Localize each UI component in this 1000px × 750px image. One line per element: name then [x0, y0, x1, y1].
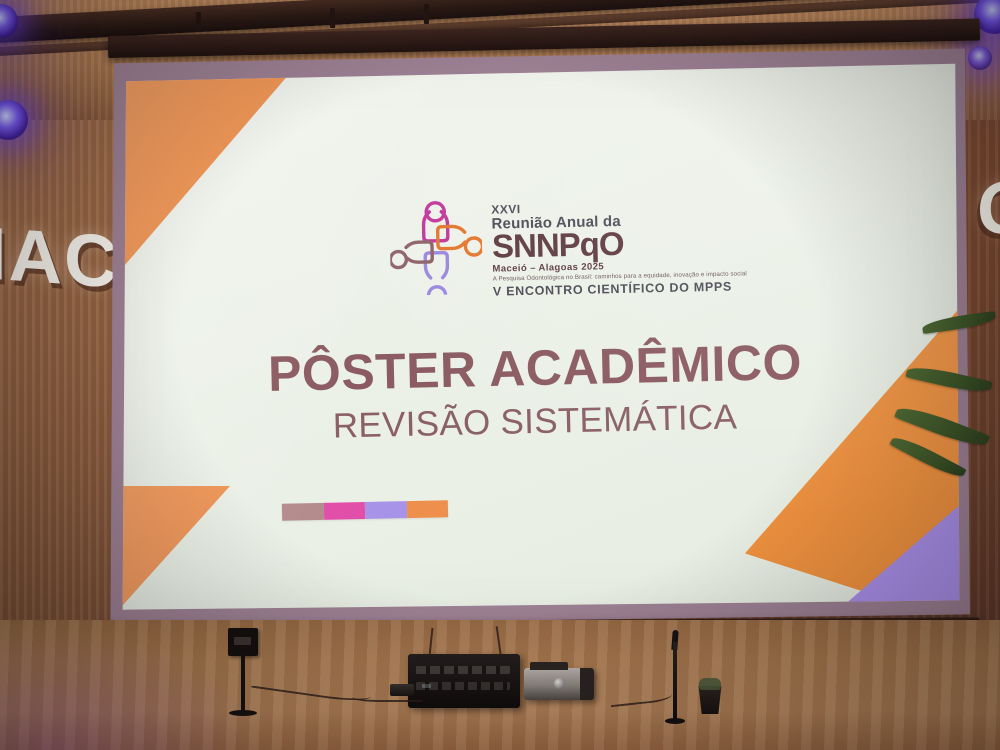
slide-content: XXVI Reunião Anual da SNNPqO Maceió – Al…: [100, 44, 970, 626]
color-palette-bar: [282, 500, 448, 520]
palette-swatch-2: [323, 502, 365, 520]
rail-drop-bracket: [330, 8, 335, 28]
palette-swatch-1: [282, 503, 324, 521]
logo-acronym: SNNPqO: [492, 227, 747, 263]
hanging-cable: [429, 628, 473, 658]
logo-mpps-line: V ENCONTRO CIENTÍFICO DO MPPS: [493, 279, 747, 298]
floor-light-glow: [0, 630, 260, 750]
palette-swatch-3: [365, 501, 407, 519]
microphone-pole: [673, 642, 677, 720]
screen-surface: XXVI Reunião Anual da SNNPqO Maceió – Al…: [100, 44, 970, 626]
microphone-base: [665, 718, 685, 724]
rail-drop-bracket: [196, 12, 201, 32]
projection-screen: XXVI Reunião Anual da SNNPqO Maceió – Al…: [100, 36, 980, 626]
bucket-foliage: [699, 678, 721, 690]
stage-light-pole: [241, 654, 245, 712]
snnpqo-puzzle-logo-icon: [389, 194, 483, 296]
audio-amplifier: [408, 654, 520, 708]
palette-swatch-4: [406, 500, 448, 518]
auditorium-scene: IAC C: [0, 0, 1000, 750]
stage-light-base: [229, 710, 257, 716]
conference-logo: XXVI Reunião Anual da SNNPqO Maceió – Al…: [389, 188, 751, 301]
venue-sign-right: C: [977, 163, 1000, 253]
stage-light-head: [228, 628, 258, 656]
media-player-knob: [554, 678, 565, 689]
rail-drop-bracket: [424, 4, 429, 24]
microphone-stand: [664, 630, 686, 730]
media-player-device: [524, 668, 594, 700]
power-cable: [352, 690, 422, 702]
amplifier-indicator: [422, 684, 431, 688]
logo-text-block: XXVI Reunião Anual da SNNPqO Maceió – Al…: [491, 188, 747, 298]
